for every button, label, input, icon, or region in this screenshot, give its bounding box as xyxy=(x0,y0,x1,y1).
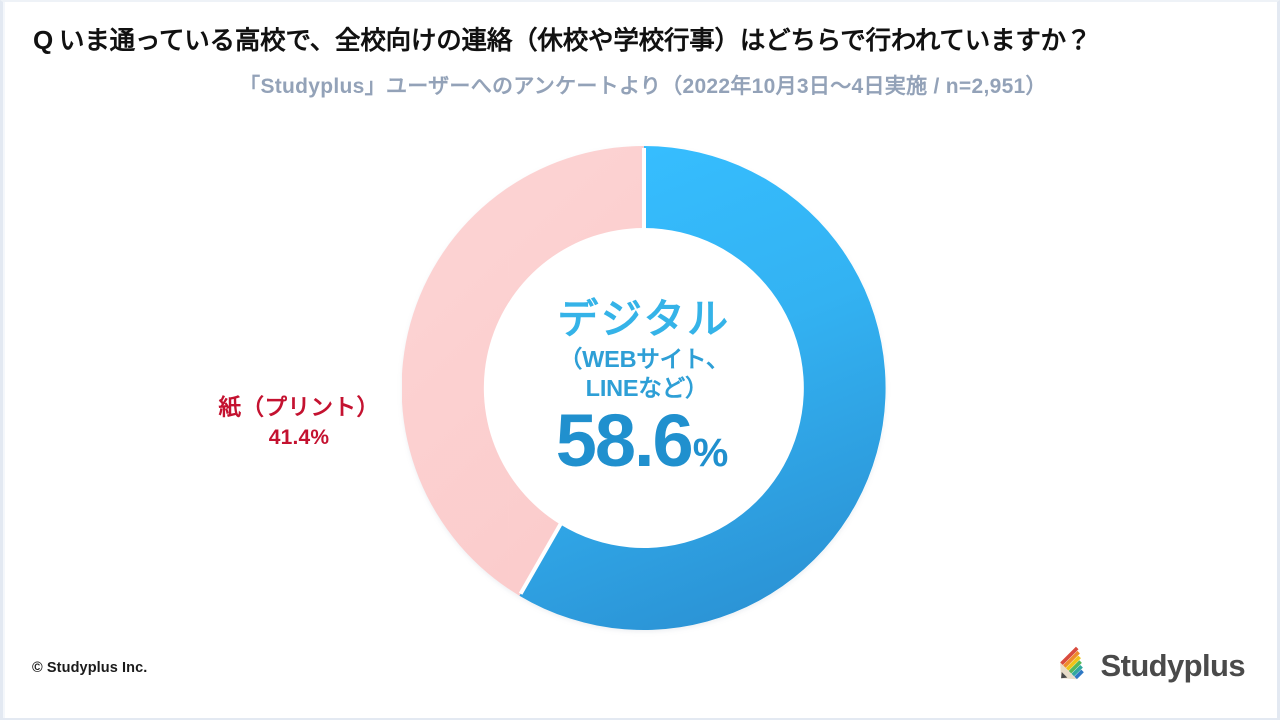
copyright-text: © Studyplus Inc. xyxy=(32,660,147,676)
donut-chart xyxy=(402,146,886,630)
page-title-text: いま通っている高校で、全校向けの連絡（休校や学校行事）はどちらで行われていますか… xyxy=(59,27,1091,55)
paper-slice-label: 紙（プリント） 41.4% xyxy=(181,394,417,452)
donut-chart-svg xyxy=(402,146,886,630)
brand-name: Studyplus xyxy=(1101,650,1245,681)
paper-slice-value: 41.4% xyxy=(181,425,417,452)
page-title: Qいま通っている高校で、全校向けの連絡（休校や学校行事）はどちらで行われています… xyxy=(3,24,1280,58)
footer: © Studyplus Inc. Studyplus xyxy=(3,636,1280,718)
donut-hole xyxy=(500,244,788,532)
subtitle: 「Studyplus」ユーザーへのアンケートより（2022年10月3日〜4日実施… xyxy=(3,58,1280,99)
brand-lockup: Studyplus xyxy=(1051,644,1245,686)
rainbow-pencil-icon xyxy=(1051,644,1093,686)
header: Qいま通っている高校で、全校向けの連絡（休校や学校行事）はどちらで行われています… xyxy=(3,2,1280,99)
chart-area: デジタル （WEBサイト、 LINEなど） 58.6 % 紙（プリント） 41.… xyxy=(3,130,1280,650)
slide-root: Qいま通っている高校で、全校向けの連絡（休校や学校行事）はどちらで行われています… xyxy=(0,0,1280,720)
paper-slice-name: 紙（プリント） xyxy=(181,394,417,423)
question-marker: Q xyxy=(33,25,53,55)
